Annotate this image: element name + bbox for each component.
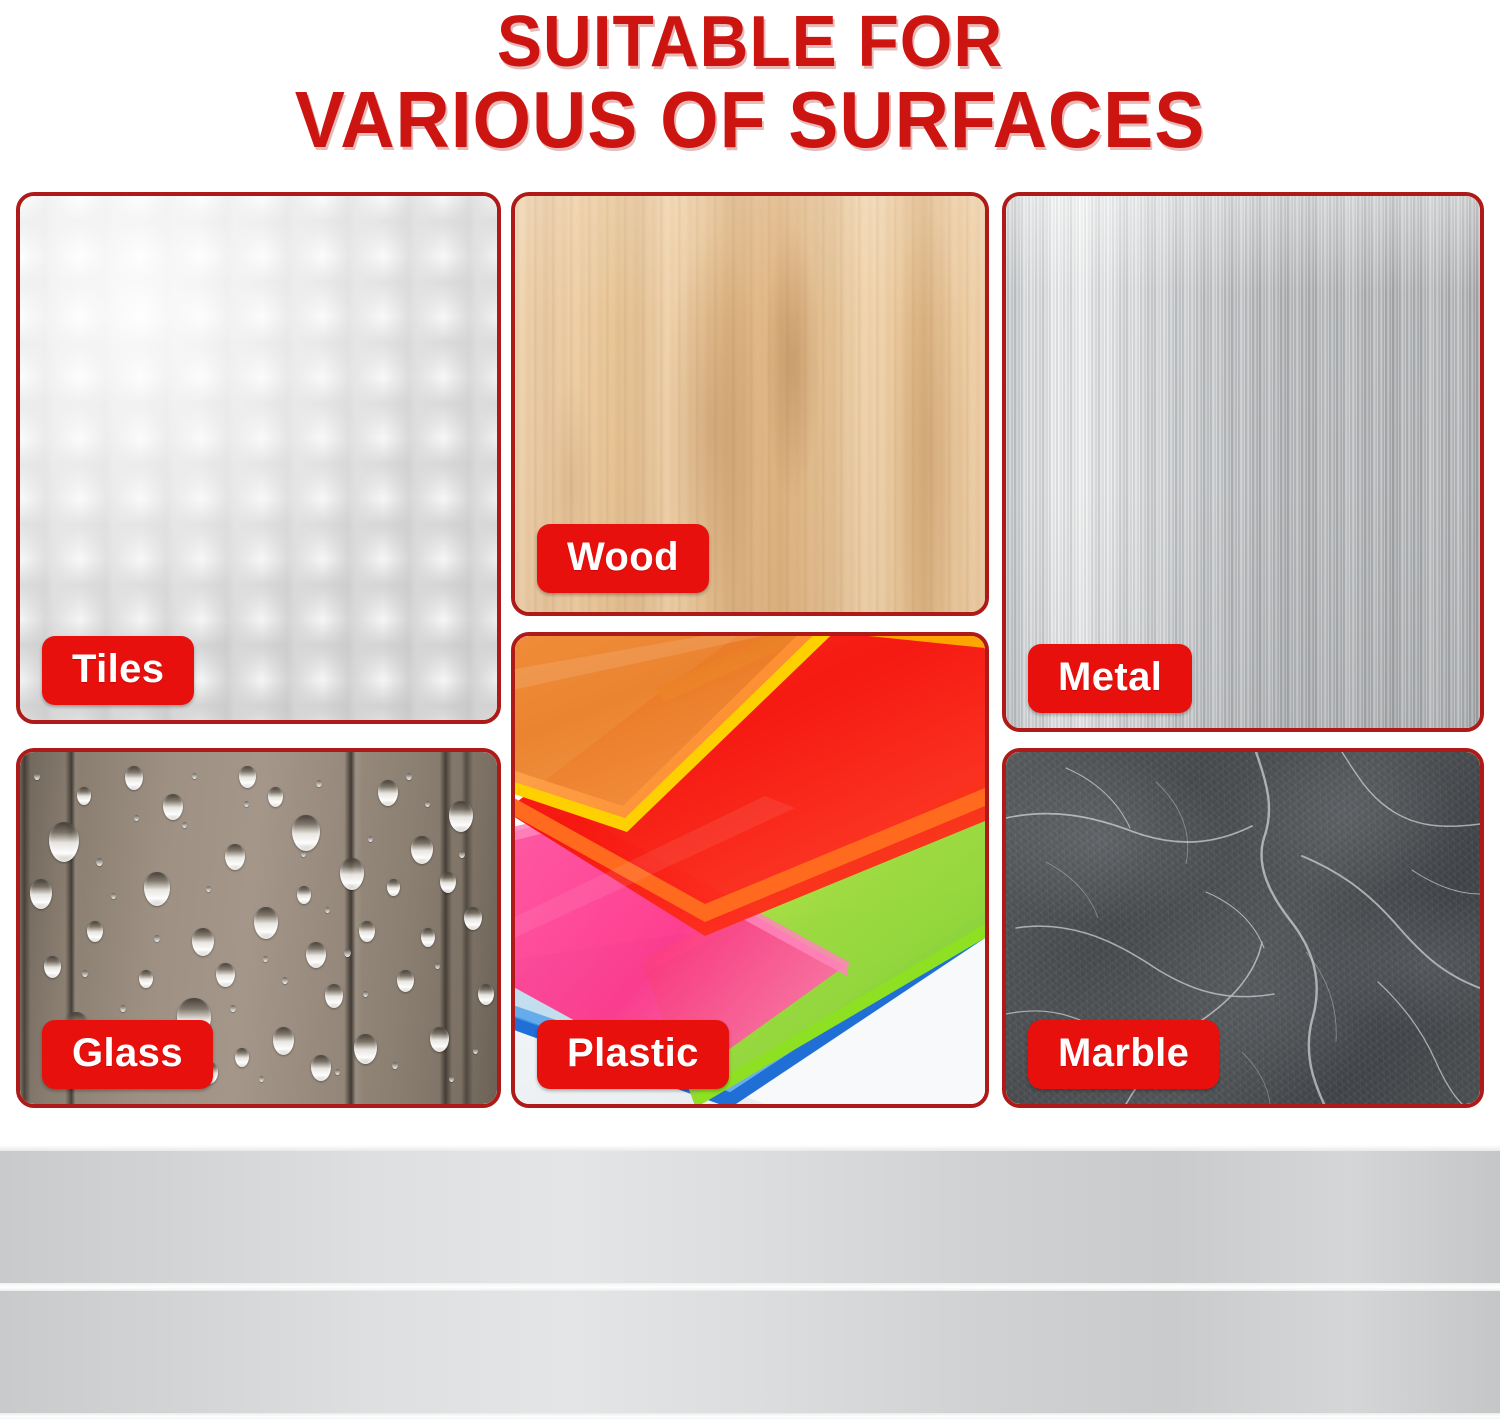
water-droplet <box>430 1027 449 1052</box>
surface-label-tiles: Tiles <box>42 636 194 705</box>
surface-label-wood: Wood <box>537 524 709 593</box>
water-droplet-small <box>230 1005 236 1012</box>
water-droplet <box>163 794 183 820</box>
water-droplet-small <box>368 836 373 842</box>
surface-label-marble: Marble <box>1028 1020 1219 1089</box>
water-droplet <box>411 836 433 864</box>
water-droplet-small <box>335 1069 340 1075</box>
water-droplet-small <box>244 801 249 807</box>
water-droplet <box>297 886 311 904</box>
band-bottom-edge <box>0 1413 1500 1419</box>
water-droplet-small <box>435 963 440 969</box>
bottom-metal-panel <box>0 1145 1500 1419</box>
surface-card-metal[interactable]: Metal <box>1002 192 1484 732</box>
water-droplet <box>478 984 494 1005</box>
surface-label-plastic: Plastic <box>537 1020 729 1089</box>
water-droplet-small <box>192 773 197 779</box>
water-droplet <box>449 801 473 832</box>
water-droplet-small <box>120 1005 126 1012</box>
water-droplet <box>387 879 400 896</box>
surface-grid: Tiles Wood Metal Glass <box>16 192 1484 1112</box>
water-droplet <box>359 921 375 942</box>
water-droplet <box>225 844 245 870</box>
water-droplet-small <box>96 858 103 866</box>
water-droplet-small <box>154 935 160 942</box>
water-droplet <box>421 928 435 947</box>
water-droplet <box>354 1034 377 1064</box>
surface-card-wood[interactable]: Wood <box>511 192 989 616</box>
water-droplet-small <box>301 851 306 857</box>
water-droplet-small <box>325 907 330 913</box>
water-droplet <box>325 984 343 1008</box>
surface-card-glass[interactable]: Glass <box>16 748 501 1108</box>
water-droplet-small <box>282 977 288 984</box>
water-droplet <box>306 942 326 968</box>
band-segment-bottom <box>0 1291 1500 1419</box>
water-droplet <box>440 872 456 893</box>
water-droplet <box>139 970 153 988</box>
band-segment-top <box>0 1151 1500 1283</box>
water-droplet-small <box>82 970 88 977</box>
water-droplet <box>144 872 170 906</box>
water-droplet-small <box>34 773 40 780</box>
water-droplet-small <box>363 991 368 997</box>
water-droplet-small <box>263 956 268 962</box>
water-droplet <box>340 858 364 890</box>
water-droplet <box>268 787 283 807</box>
water-droplet <box>125 766 143 790</box>
title-line-2: VARIOUS OF SURFACES <box>45 79 1455 161</box>
water-droplet <box>397 970 414 992</box>
water-droplet <box>464 907 482 930</box>
water-droplet <box>235 1048 249 1067</box>
water-droplet <box>292 815 320 851</box>
water-droplet-small <box>392 1062 398 1069</box>
water-droplet-small <box>111 893 116 899</box>
water-droplet <box>77 787 91 805</box>
water-droplet <box>378 780 398 806</box>
title-line-1: SUITABLE FOR <box>45 6 1455 79</box>
water-droplet <box>254 907 278 939</box>
water-droplet-small <box>134 815 139 821</box>
water-droplet <box>49 822 79 862</box>
water-droplet <box>44 956 61 978</box>
surface-card-tiles[interactable]: Tiles <box>16 192 501 724</box>
water-droplet <box>311 1055 331 1081</box>
water-droplet-small <box>344 949 351 957</box>
water-droplet-small <box>406 773 412 780</box>
water-droplet-small <box>473 1048 478 1054</box>
surface-card-plastic[interactable]: Plastic <box>511 632 989 1108</box>
water-droplet <box>239 766 256 788</box>
water-droplet-small <box>206 886 211 892</box>
page-title: SUITABLE FOR VARIOUS OF SURFACES <box>0 0 1500 161</box>
water-droplet <box>216 963 235 987</box>
water-droplet <box>30 879 52 909</box>
water-droplet-small <box>425 801 430 807</box>
surface-label-glass: Glass <box>42 1020 213 1089</box>
water-droplet-small <box>316 780 322 787</box>
water-droplet-small <box>259 1076 264 1082</box>
surface-label-metal: Metal <box>1028 644 1192 713</box>
water-droplet <box>192 928 214 956</box>
water-droplet <box>273 1027 294 1055</box>
water-droplet-small <box>182 822 187 828</box>
water-droplet <box>87 921 103 942</box>
water-droplet-small <box>449 1076 454 1082</box>
surface-card-marble[interactable]: Marble <box>1002 748 1484 1108</box>
water-droplet-small <box>459 851 465 858</box>
